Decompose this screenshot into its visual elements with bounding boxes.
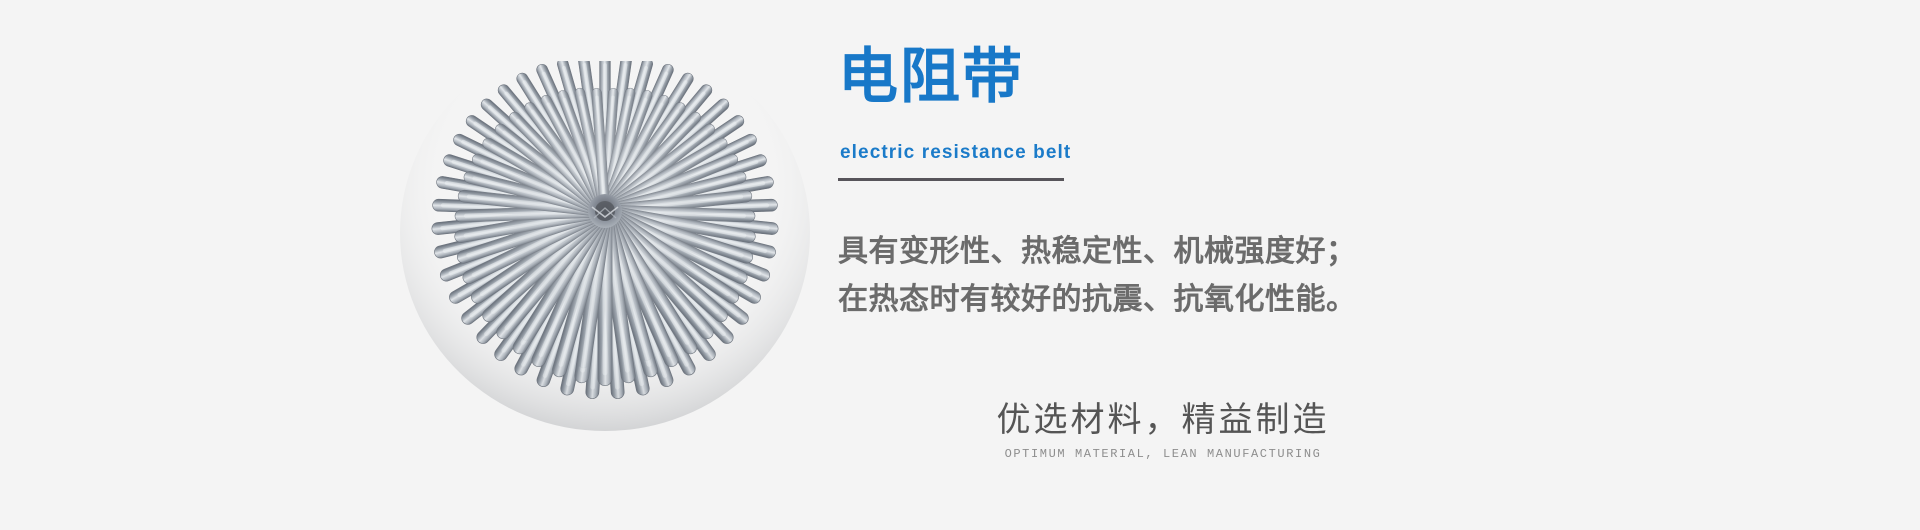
product-description: 具有变形性、热稳定性、机械强度好； 在热态时有较好的抗震、抗氧化性能。 (838, 228, 1357, 324)
page-subtitle-english: electric resistance belt (840, 142, 1071, 164)
electric-resistance-belt-photo (395, 61, 815, 456)
title-divider (838, 178, 1064, 181)
banner-text-column: 电阻带 electric resistance belt 具有变形性、热稳定性、… (838, 0, 1738, 530)
tagline-english: OPTIMUM MATERIAL, LEAN MANUFACTURING (953, 446, 1373, 462)
product-image-figure (395, 61, 815, 456)
product-banner: 电阻带 electric resistance belt 具有变形性、热稳定性、… (0, 0, 1920, 530)
tagline-block: 优选材料，精益制造 OPTIMUM MATERIAL, LEAN MANUFAC… (953, 398, 1373, 462)
page-title: 电阻带 (838, 44, 1024, 110)
tagline-chinese: 优选材料，精益制造 (953, 398, 1373, 442)
description-line-1: 具有变形性、热稳定性、机械强度好； (838, 228, 1357, 276)
description-line-2: 在热态时有较好的抗震、抗氧化性能。 (838, 276, 1357, 324)
